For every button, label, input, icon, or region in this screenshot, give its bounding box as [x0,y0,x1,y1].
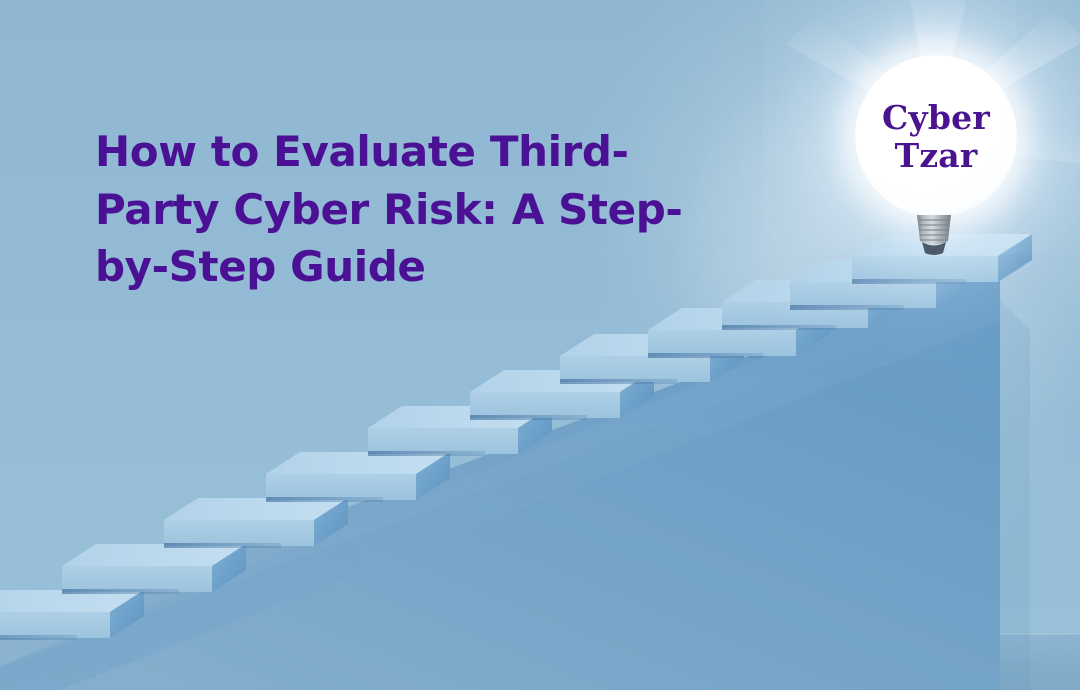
step-front-face [0,612,110,638]
step-front-face [852,256,998,282]
step-contact-shadow [852,279,966,284]
step-contact-shadow [62,589,179,594]
step-contact-shadow [0,635,77,640]
step-front-face [164,520,314,546]
step-front-face [368,428,518,454]
step-front-face [648,330,796,356]
hero-banner: Cyber Tzar [0,0,1080,690]
step-contact-shadow [722,325,836,330]
step-front-face [62,566,212,592]
step-contact-shadow [790,305,904,310]
step-front-face [560,356,710,382]
step-contact-shadow [470,415,587,420]
step-contact-shadow [648,353,763,358]
page-title: How to Evaluate Third-Party Cyber Risk: … [95,123,695,296]
step-contact-shadow [560,379,677,384]
step-front-face [470,392,620,418]
step-contact-shadow [368,451,485,456]
staircase [0,0,1080,690]
step-contact-shadow [266,497,383,502]
step-front-face [266,474,416,500]
step-contact-shadow [164,543,281,548]
step-front-face [790,282,936,308]
